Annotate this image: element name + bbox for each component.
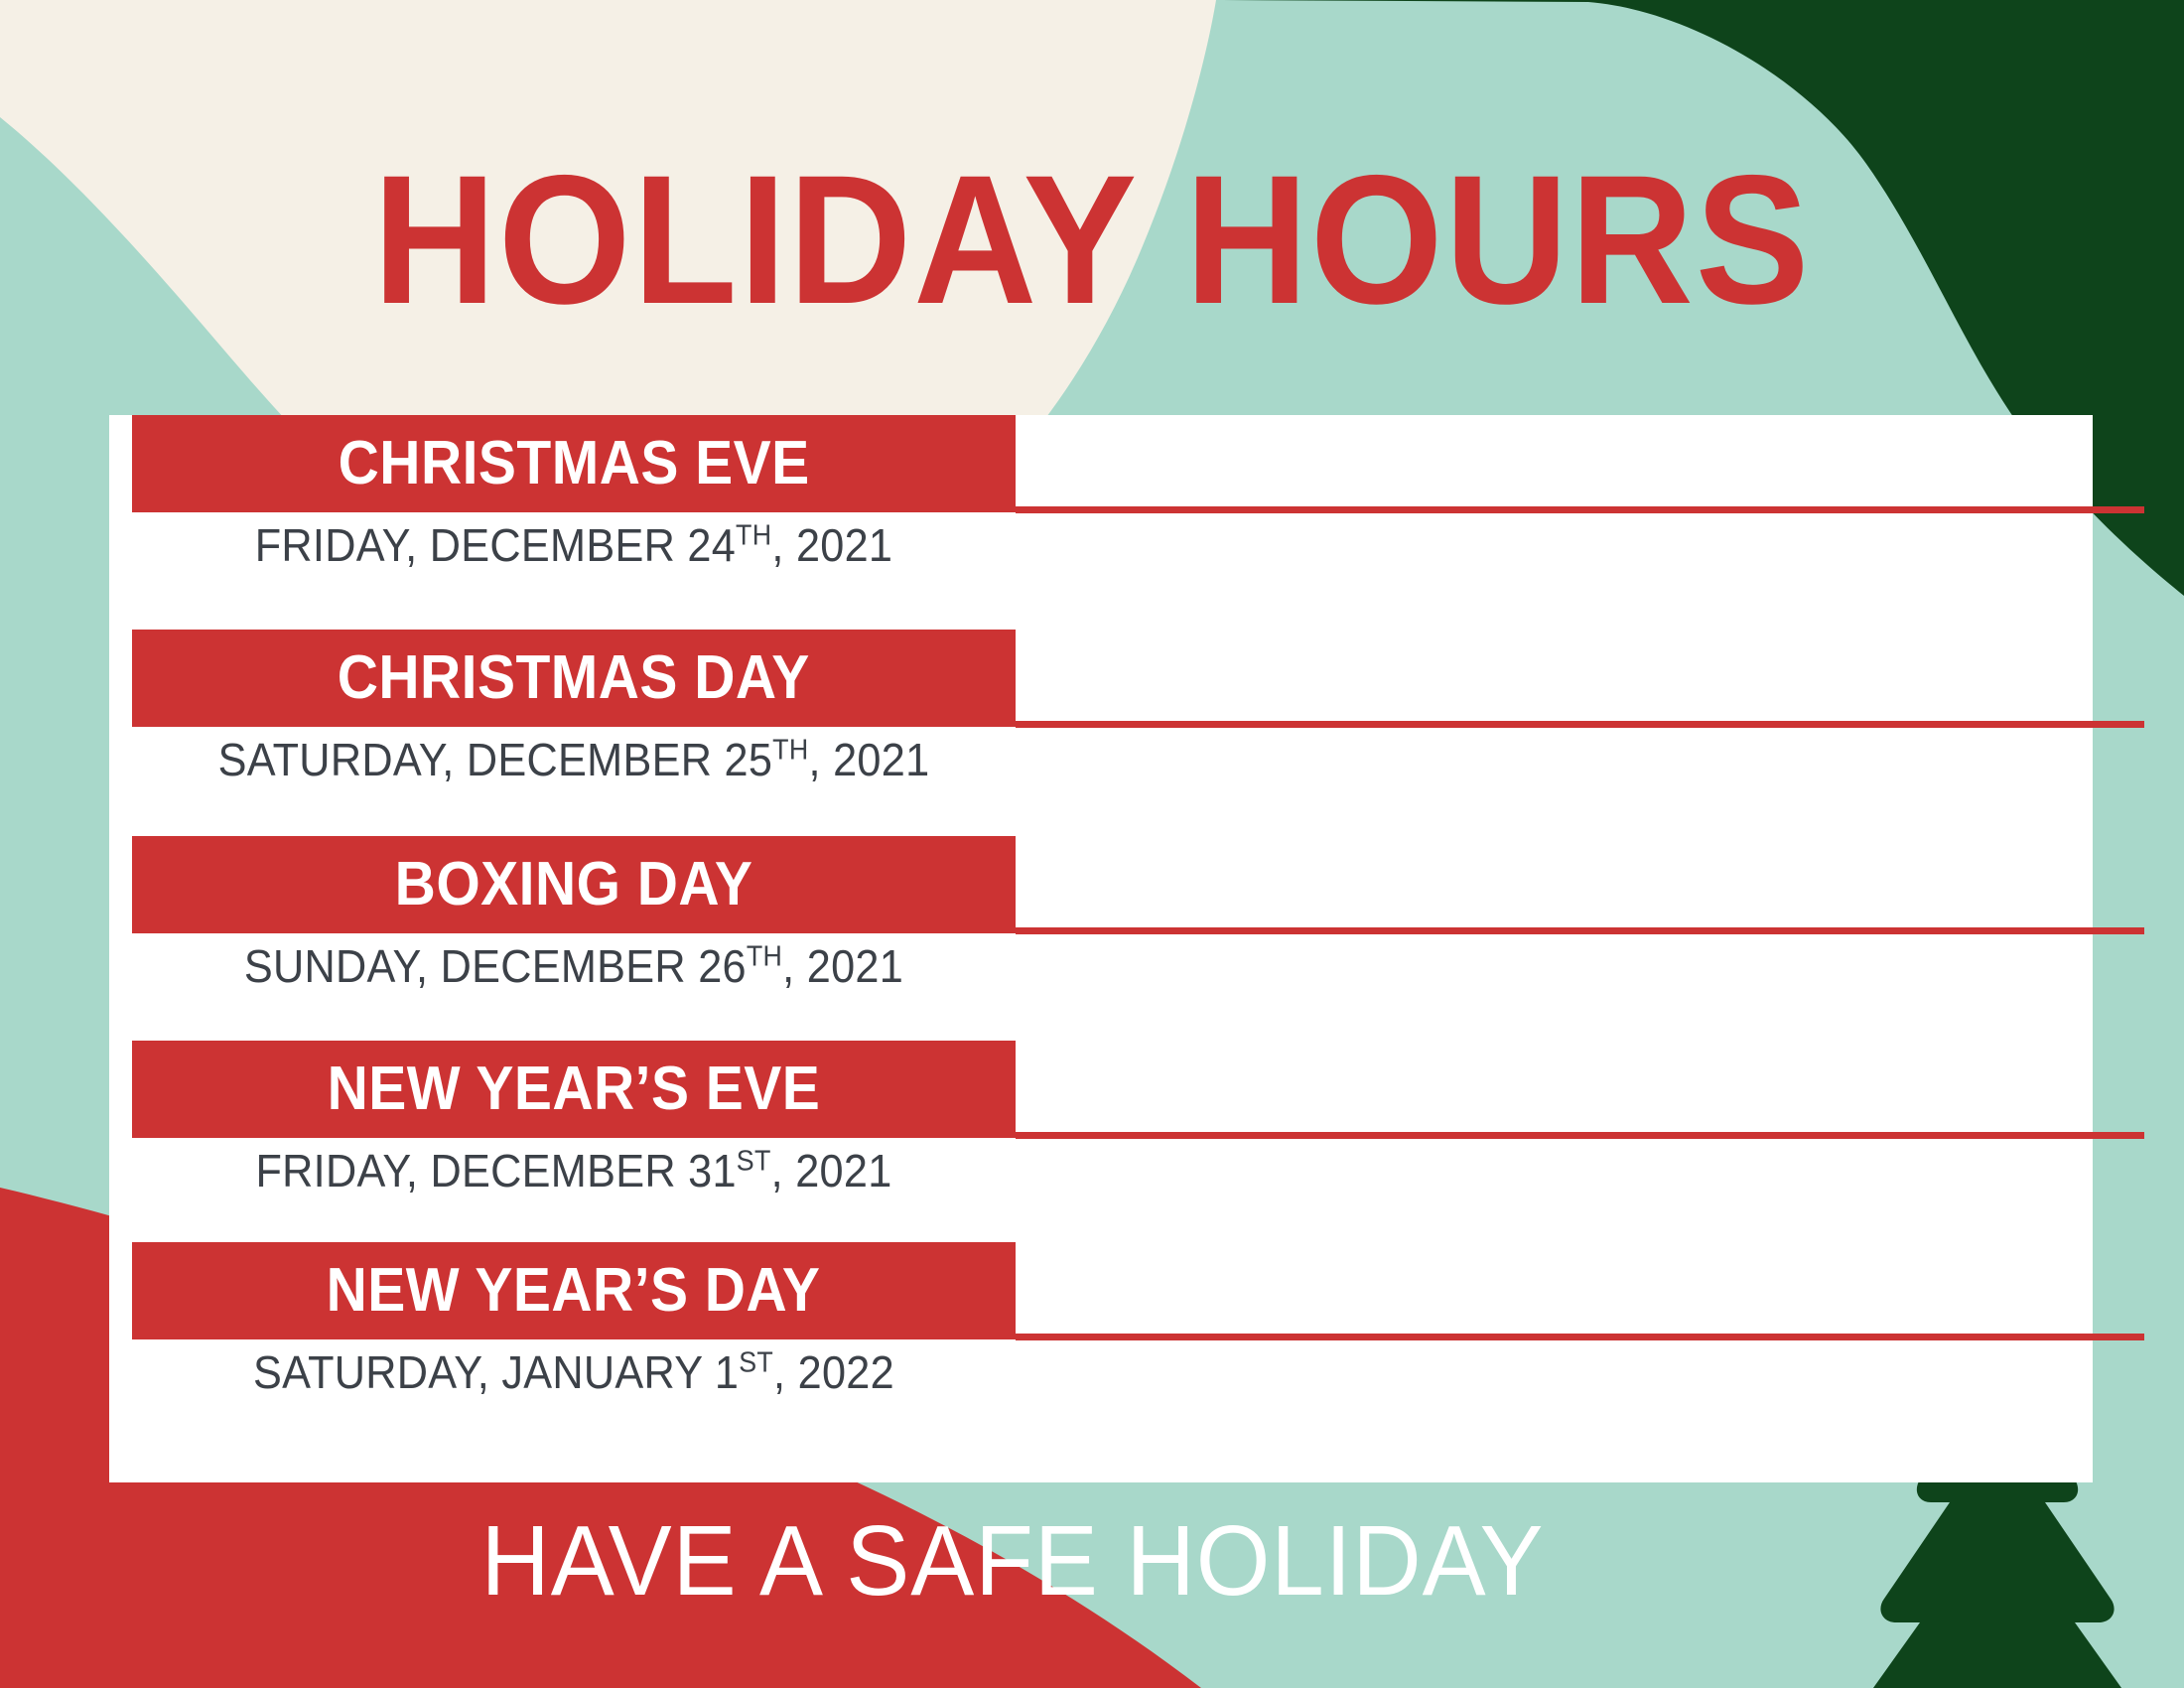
holiday-date-suffix: , 2021 — [808, 734, 929, 785]
hours-write-in-line — [1016, 721, 2144, 728]
holiday-date: SUNDAY, DECEMBER 26TH, 2021 — [159, 943, 990, 989]
holiday-date-suffix: , 2022 — [773, 1346, 894, 1398]
table-row: NEW YEAR’S DAY SATURDAY, JANUARY 1ST, 20… — [109, 1242, 2093, 1441]
holiday-date: SATURDAY, DECEMBER 25TH, 2021 — [159, 737, 990, 782]
holiday-hours-poster: HOLIDAY HOURS CHRISTMAS EVE FRIDAY, DECE… — [0, 0, 2184, 1688]
holiday-date-ordinal: TH — [747, 941, 782, 973]
holiday-date: SATURDAY, JANUARY 1ST, 2022 — [159, 1349, 990, 1395]
holiday-name: CHRISTMAS EVE — [338, 433, 809, 494]
holiday-name: NEW YEAR’S DAY — [327, 1260, 821, 1322]
holiday-name: BOXING DAY — [395, 854, 753, 915]
table-row: NEW YEAR’S EVE FRIDAY, DECEMBER 31ST, 20… — [109, 1041, 2093, 1239]
holiday-date: FRIDAY, DECEMBER 24TH, 2021 — [159, 522, 990, 568]
holiday-date-ordinal: ST — [739, 1347, 773, 1379]
holiday-name: CHRISTMAS DAY — [338, 647, 810, 709]
holiday-name-bar: BOXING DAY — [132, 836, 1016, 933]
hours-write-in-line — [1016, 506, 2144, 513]
holiday-name-bar: CHRISTMAS EVE — [132, 415, 1016, 512]
holiday-date-ordinal: ST — [737, 1146, 771, 1178]
holiday-date-suffix: , 2021 — [782, 940, 903, 992]
hours-write-in-line — [1016, 1334, 2144, 1340]
holiday-date: FRIDAY, DECEMBER 31ST, 2021 — [159, 1148, 990, 1194]
holiday-date-suffix: , 2021 — [771, 1145, 892, 1196]
page-title: HOLIDAY HOURS — [76, 149, 2108, 333]
footer-message: HAVE A SAFE HOLIDAY — [41, 1511, 1984, 1611]
holiday-date-ordinal: TH — [736, 520, 771, 552]
holiday-name: NEW YEAR’S EVE — [328, 1058, 821, 1120]
hours-card: CHRISTMAS EVE FRIDAY, DECEMBER 24TH, 202… — [109, 415, 2093, 1482]
table-row: CHRISTMAS EVE FRIDAY, DECEMBER 24TH, 202… — [109, 415, 2093, 614]
hours-write-in-line — [1016, 927, 2144, 934]
holiday-date-ordinal: TH — [772, 735, 808, 767]
holiday-date-prefix: SATURDAY, DECEMBER 25 — [218, 734, 773, 785]
holiday-date-suffix: , 2021 — [771, 519, 892, 571]
holiday-name-bar: NEW YEAR’S EVE — [132, 1041, 1016, 1138]
holiday-date-prefix: FRIDAY, DECEMBER 24 — [255, 519, 736, 571]
hours-write-in-line — [1016, 1132, 2144, 1139]
holiday-date-prefix: SATURDAY, JANUARY 1 — [253, 1346, 739, 1398]
table-row: CHRISTMAS DAY SATURDAY, DECEMBER 25TH, 2… — [109, 630, 2093, 828]
holiday-name-bar: CHRISTMAS DAY — [132, 630, 1016, 727]
holiday-date-prefix: SUNDAY, DECEMBER 26 — [244, 940, 747, 992]
table-row: BOXING DAY SUNDAY, DECEMBER 26TH, 2021 — [109, 836, 2093, 1035]
holiday-name-bar: NEW YEAR’S DAY — [132, 1242, 1016, 1339]
holiday-date-prefix: FRIDAY, DECEMBER 31 — [255, 1145, 736, 1196]
